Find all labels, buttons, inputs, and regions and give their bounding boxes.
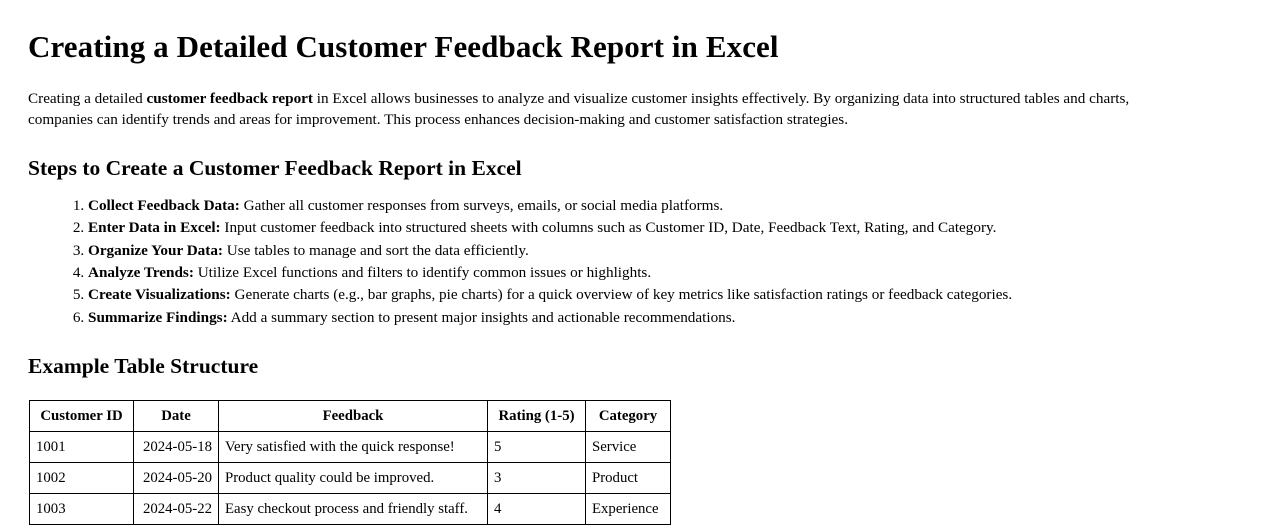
- cell-date: 2024-05-20: [134, 462, 219, 493]
- step-label: Enter Data in Excel:: [88, 219, 221, 236]
- intro-bold-phrase: customer feedback report: [147, 90, 313, 107]
- step-text: Generate charts (e.g., bar graphs, pie c…: [231, 286, 1012, 303]
- table-header-row: Customer ID Date Feedback Rating (1-5) C…: [30, 400, 671, 431]
- step-label: Analyze Trends:: [88, 264, 194, 281]
- step-label: Organize Your Data:: [88, 242, 223, 259]
- cell-rating: 4: [488, 493, 586, 524]
- table-row: 1002 2024-05-20 Product quality could be…: [30, 462, 671, 493]
- steps-section-heading: Steps to Create a Customer Feedback Repo…: [28, 155, 1250, 183]
- example-table-structure: Customer ID Date Feedback Rating (1-5) C…: [29, 400, 671, 525]
- step-label: Collect Feedback Data:: [88, 197, 240, 214]
- list-item: Create Visualizations: Generate charts (…: [88, 284, 1250, 306]
- column-header-feedback: Feedback: [219, 400, 488, 431]
- cell-date: 2024-05-18: [134, 431, 219, 462]
- steps-list: Collect Feedback Data: Gather all custom…: [28, 195, 1250, 329]
- column-header-date: Date: [134, 400, 219, 431]
- cell-customer-id: 1003: [30, 493, 134, 524]
- step-text: Utilize Excel functions and filters to i…: [194, 264, 651, 281]
- intro-text-part-1: Creating a detailed: [28, 90, 147, 107]
- list-item: Collect Feedback Data: Gather all custom…: [88, 195, 1250, 217]
- cell-category: Service: [586, 431, 671, 462]
- cell-feedback: Easy checkout process and friendly staff…: [219, 493, 488, 524]
- column-header-customer-id: Customer ID: [30, 400, 134, 431]
- column-header-category: Category: [586, 400, 671, 431]
- intro-paragraph: Creating a detailed customer feedback re…: [28, 88, 1193, 131]
- document-page: Creating a Detailed Customer Feedback Re…: [0, 28, 1278, 525]
- list-item: Organize Your Data: Use tables to manage…: [88, 240, 1250, 262]
- cell-rating: 3: [488, 462, 586, 493]
- cell-feedback: Very satisfied with the quick response!: [219, 431, 488, 462]
- list-item: Summarize Findings: Add a summary sectio…: [88, 307, 1250, 329]
- list-item: Enter Data in Excel: Input customer feed…: [88, 217, 1250, 239]
- step-text: Gather all customer responses from surve…: [240, 197, 723, 214]
- cell-date: 2024-05-22: [134, 493, 219, 524]
- column-header-rating: Rating (1-5): [488, 400, 586, 431]
- cell-rating: 5: [488, 431, 586, 462]
- table-row: 1001 2024-05-18 Very satisfied with the …: [30, 431, 671, 462]
- cell-category: Product: [586, 462, 671, 493]
- cell-feedback: Product quality could be improved.: [219, 462, 488, 493]
- step-text: Use tables to manage and sort the data e…: [223, 242, 529, 259]
- step-label: Summarize Findings:: [88, 309, 228, 326]
- step-label: Create Visualizations:: [88, 286, 231, 303]
- cell-customer-id: 1001: [30, 431, 134, 462]
- cell-customer-id: 1002: [30, 462, 134, 493]
- table-row: 1003 2024-05-22 Easy checkout process an…: [30, 493, 671, 524]
- table-body: 1001 2024-05-18 Very satisfied with the …: [30, 431, 671, 524]
- cell-category: Experience: [586, 493, 671, 524]
- page-title: Creating a Detailed Customer Feedback Re…: [28, 28, 1250, 66]
- step-text: Input customer feedback into structured …: [221, 219, 997, 236]
- table-header: Customer ID Date Feedback Rating (1-5) C…: [30, 400, 671, 431]
- step-text: Add a summary section to present major i…: [228, 309, 736, 326]
- list-item: Analyze Trends: Utilize Excel functions …: [88, 262, 1250, 284]
- table-section-heading: Example Table Structure: [28, 353, 1250, 381]
